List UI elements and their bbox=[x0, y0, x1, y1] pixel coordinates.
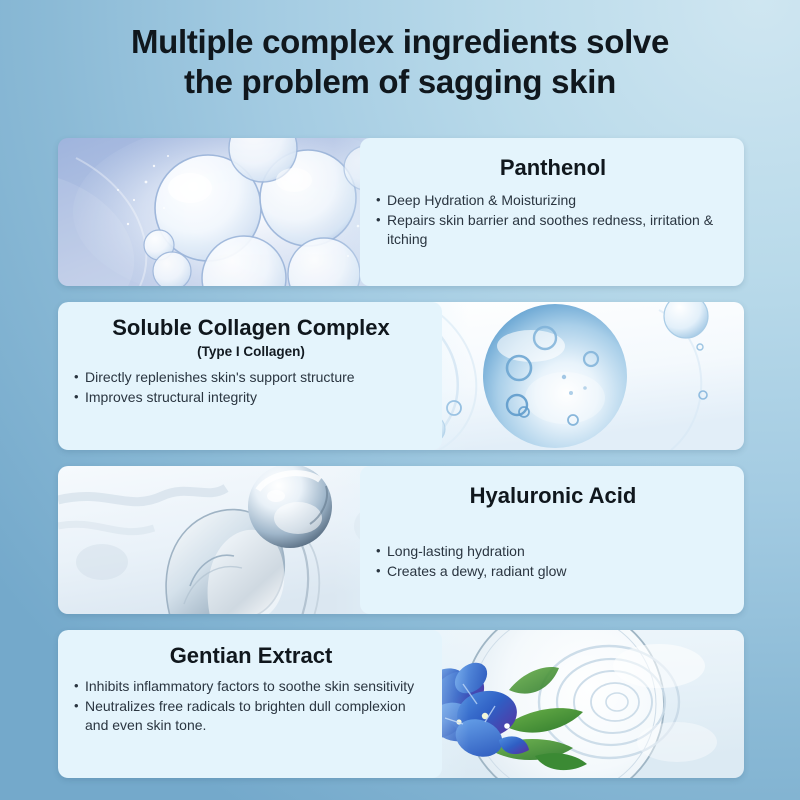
card-title: Hyaluronic Acid bbox=[376, 484, 730, 508]
card-subtitle: (Type I Collagen) bbox=[74, 344, 428, 359]
gentian-extract-text-panel: Gentian Extract Inhibits inflammatory fa… bbox=[58, 630, 442, 778]
card-bullet-list: Directly replenishes skin's support stru… bbox=[74, 368, 428, 408]
card-bullet-list: Long-lasting hydration Creates a dewy, r… bbox=[376, 542, 730, 582]
card-bullet: Deep Hydration & Moisturizing bbox=[376, 191, 730, 210]
card-bullet: Repairs skin barrier and soothes redness… bbox=[376, 211, 730, 249]
ingredient-card-soluble-collagen-complex: Soluble Collagen Complex (Type I Collage… bbox=[58, 302, 744, 450]
ingredient-card-gentian-extract: Gentian Extract Inhibits inflammatory fa… bbox=[58, 630, 744, 778]
ingredient-card-list: Panthenol Deep Hydration & Moisturizing … bbox=[58, 138, 744, 778]
card-title: Gentian Extract bbox=[74, 644, 428, 668]
hyaluronic-acid-text-panel: Hyaluronic Acid Long-lasting hydration C… bbox=[360, 466, 744, 614]
card-bullet: Long-lasting hydration bbox=[376, 542, 730, 561]
card-bullet: Inhibits inflammatory factors to soothe … bbox=[74, 677, 428, 696]
panthenol-text-panel: Panthenol Deep Hydration & Moisturizing … bbox=[360, 138, 744, 286]
card-title: Soluble Collagen Complex bbox=[74, 316, 428, 340]
ingredient-card-panthenol: Panthenol Deep Hydration & Moisturizing … bbox=[58, 138, 744, 286]
card-bullet-list: Inhibits inflammatory factors to soothe … bbox=[74, 677, 428, 736]
card-bullet: Creates a dewy, radiant glow bbox=[376, 562, 730, 581]
card-title: Panthenol bbox=[376, 156, 730, 180]
page-title-line-1: Multiple complex ingredients solve bbox=[40, 22, 760, 62]
ingredient-card-hyaluronic-acid: Hyaluronic Acid Long-lasting hydration C… bbox=[58, 466, 744, 614]
soluble-collagen-complex-text-panel: Soluble Collagen Complex (Type I Collage… bbox=[58, 302, 442, 450]
card-bullet-list: Deep Hydration & Moisturizing Repairs sk… bbox=[376, 191, 730, 250]
card-bullet: Neutralizes free radicals to brighten du… bbox=[74, 697, 428, 735]
page-title: Multiple complex ingredients solve the p… bbox=[0, 0, 800, 103]
card-bullet: Improves structural integrity bbox=[74, 388, 428, 407]
card-bullet: Directly replenishes skin's support stru… bbox=[74, 368, 428, 387]
page-title-line-2: the problem of sagging skin bbox=[40, 62, 760, 102]
